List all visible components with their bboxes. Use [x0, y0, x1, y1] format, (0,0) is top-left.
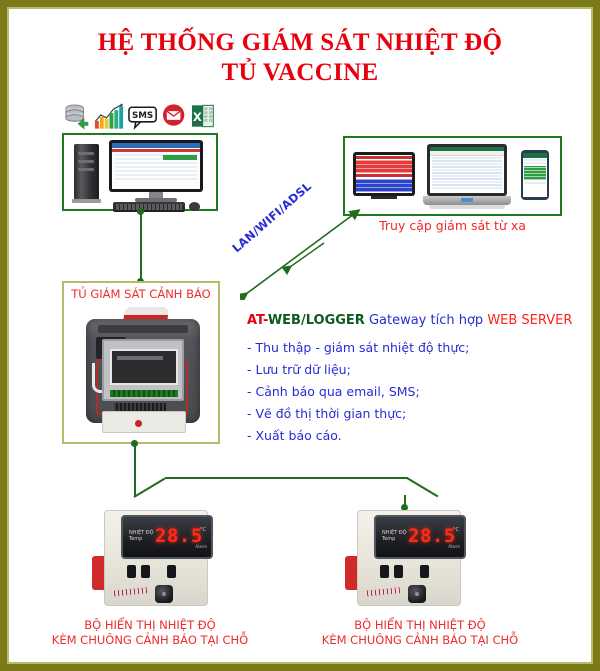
sms-icon: SMS: [128, 102, 157, 130]
caption-line-1: BỘ HIỂN THỊ NHIỆT ĐỘ: [275, 618, 565, 633]
remote-devices-group: [343, 136, 562, 216]
caption-line-1: BỘ HIỂN THỊ NHIỆT ĐỘ: [20, 618, 280, 633]
excel-icon: X: [191, 102, 214, 130]
email-icon: [161, 102, 186, 130]
caption-line-2: KÈM CHUÔNG CẢNH BÁO TẠI CHỖ: [20, 633, 280, 648]
database-icon: [64, 102, 89, 130]
connector-plug-c-right: [420, 565, 429, 578]
temperature-display-right: NHIỆT ĐỘ Temp 28.5 °C Alarm: [345, 500, 461, 612]
tablet-icon: [353, 152, 415, 196]
laptop-base: [429, 205, 505, 209]
unit-housing-right: NHIỆT ĐỘ Temp 28.5 °C Alarm: [357, 510, 461, 606]
laptop-keyboard: [423, 196, 511, 205]
service-icon-row: SMS X: [64, 96, 214, 130]
alarm-indicator-label-left: Alarm: [195, 544, 207, 549]
connector-plug-b-left: [141, 565, 150, 578]
brand-main: WEB/LOGGER: [268, 313, 365, 328]
caption-display-right: BỘ HIỂN THỊ NHIỆT ĐỘ KÈM CHUÔNG CẢNH BÁO…: [275, 618, 565, 648]
local-monitoring-pc: [62, 133, 218, 211]
diagram-page: HỆ THỐNG GIÁM SÁT NHIỆT ĐỘ TỦ VACCINE SM…: [0, 0, 600, 671]
unit-symbol-right: °C: [453, 527, 459, 533]
list-item: - Vẽ đồ thị thời gian thực;: [247, 403, 592, 425]
laptop-lid: [427, 144, 507, 196]
panel-sub-text-left: Temp: [129, 536, 154, 542]
sensor-ribbon-right: [364, 587, 400, 597]
temperature-display-left: NHIỆT ĐỘ Temp 28.5 °C Alarm: [92, 500, 208, 612]
monitor-icon: [109, 140, 203, 192]
connector-line-cabinet-down: [134, 444, 136, 496]
tablet-screen: [356, 155, 412, 193]
connector-bus-horizontal: [165, 477, 408, 479]
panel-sub-text-right: Temp: [382, 536, 407, 542]
laptop-screen: [430, 147, 504, 193]
list-item: - Lưu trữ dữ liệu;: [247, 359, 592, 381]
heading-suffix: WEB SERVER: [487, 313, 572, 328]
page-title: HỆ THỐNG GIÁM SÁT NHIỆT ĐỘ TỦ VACCINE: [20, 28, 580, 87]
svg-text:SMS: SMS: [132, 111, 153, 121]
unit-symbol-left: °C: [200, 527, 206, 533]
buzzer-knob-right: [408, 585, 426, 603]
led-panel-right: NHIỆT ĐỘ Temp 28.5 °C Alarm: [374, 515, 466, 559]
panel-label-right: NHIỆT ĐỘ Temp: [382, 530, 407, 542]
cabinet-illustration: [80, 307, 206, 439]
connector-plug-a-left: [127, 565, 136, 578]
sensor-ribbon-left: [111, 587, 147, 597]
title-line-2: TỦ VACCINE: [20, 58, 580, 88]
list-item: - Thu thập - giám sát nhiệt độ thực;: [247, 337, 592, 359]
title-line-1: HỆ THỐNG GIÁM SÁT NHIỆT ĐỘ: [20, 28, 580, 58]
connector-plug-c-left: [167, 565, 176, 578]
caption-line-2: KÈM CHUÔNG CẢNH BÁO TẠI CHỖ: [275, 633, 565, 648]
pc-tower-icon: [74, 144, 99, 200]
network-link-arrow: LAN/WIFI/ADSL: [240, 205, 370, 300]
tablet-stand: [371, 196, 397, 199]
bar-chart-icon: [93, 102, 124, 130]
connector-plug-a-right: [380, 565, 389, 578]
cabinet-label: TỦ GIÁM SÁT CẢNH BÁO: [64, 283, 218, 305]
cabinet-front-plate: [102, 411, 186, 433]
caption-display-left: BỘ HIỂN THỊ NHIỆT ĐỘ KÈM CHUÔNG CẢNH BÁO…: [20, 618, 280, 648]
unit-housing-left: NHIỆT ĐỘ Temp 28.5 °C Alarm: [104, 510, 208, 606]
feature-items: - Thu thập - giám sát nhiệt độ thực; - L…: [247, 337, 592, 447]
buzzer-knob-left: [155, 585, 173, 603]
monitor-screen: [112, 143, 200, 189]
gateway-heading: AT-WEB/LOGGER Gateway tích hợp WEB SERVE…: [247, 311, 592, 331]
led-panel-left: NHIỆT ĐỘ Temp 28.5 °C Alarm: [121, 515, 213, 559]
heading-middle: Gateway tích hợp: [365, 313, 488, 328]
pc-illustration: [67, 138, 213, 206]
list-item: - Xuất báo cáo.: [247, 425, 592, 447]
alarm-indicator-label-right: Alarm: [448, 544, 460, 549]
keyboard-icon: [113, 202, 185, 212]
alarm-cabinet-group: TỦ GIÁM SÁT CẢNH BÁO: [62, 281, 220, 444]
phone-screen: [523, 153, 547, 197]
panel-label-left: NHIỆT ĐỘ Temp: [129, 530, 154, 542]
smartphone-icon: [521, 150, 549, 200]
svg-text:X: X: [193, 110, 202, 124]
controller-board: [102, 339, 184, 401]
list-item: - Cảnh báo qua email, SMS;: [247, 381, 592, 403]
mouse-icon: [189, 202, 200, 211]
connector-line-pc-cabinet: [140, 211, 142, 283]
cabinet-enclosure: [86, 319, 200, 423]
brand-prefix: AT-: [247, 313, 268, 328]
gateway-feature-list: AT-WEB/LOGGER Gateway tích hợp WEB SERVE…: [247, 311, 592, 447]
connector-plug-b-right: [394, 565, 403, 578]
laptop-icon: [423, 144, 511, 212]
remote-access-caption: Truy cập giám sát từ xa: [343, 218, 562, 233]
